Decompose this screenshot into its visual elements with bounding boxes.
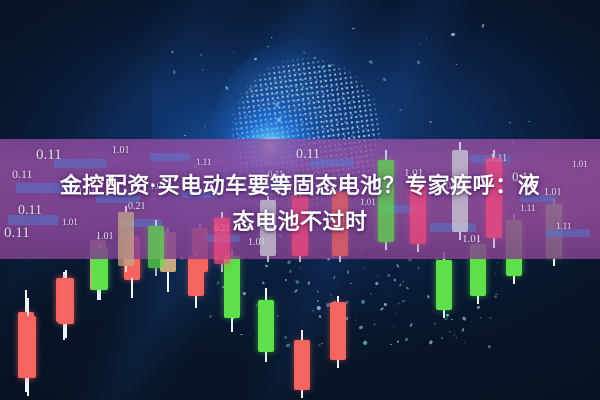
candle-body [58,278,74,324]
candle-body [258,300,274,352]
thumbnail-canvas: 0.111.011.110.111.011.010.210.111.010.11… [0,0,600,400]
candle-body [188,256,204,296]
particle [390,344,392,345]
particle [406,286,409,288]
number-label: 0.11 [296,147,320,163]
candle-body [20,316,36,378]
headline-line-1: 金控配资·买电动车要等固态电池？专家疾呼：液 [6,168,594,204]
data-bar [150,153,190,161]
particle [373,322,376,325]
candle-body [436,260,452,310]
particle [173,70,176,74]
particle [356,124,358,126]
particle [346,270,349,274]
candle-body [294,340,310,390]
headline-line-2: 态电池不过时 [6,204,594,240]
particle [364,267,365,268]
candlestick [294,330,310,398]
candlestick [258,288,274,362]
number-label: 1.11 [196,157,211,167]
page-title: 金控配资·买电动车要等固态电池？专家疾呼：液 态电池不过时 [0,168,600,240]
candlestick [436,252,452,318]
particle [456,337,457,338]
particle [471,320,473,322]
candlestick [20,298,36,396]
number-label: 0.11 [36,147,62,164]
particle [330,294,332,296]
candlestick [188,252,204,308]
number-label: 1.01 [112,145,130,156]
particle [317,300,319,302]
particle [480,317,481,319]
candlestick [58,270,74,338]
particle [477,306,480,309]
particle [361,300,365,304]
particle [377,275,378,276]
particle [289,270,292,273]
candle-body [330,302,346,360]
candlestick [330,296,346,368]
